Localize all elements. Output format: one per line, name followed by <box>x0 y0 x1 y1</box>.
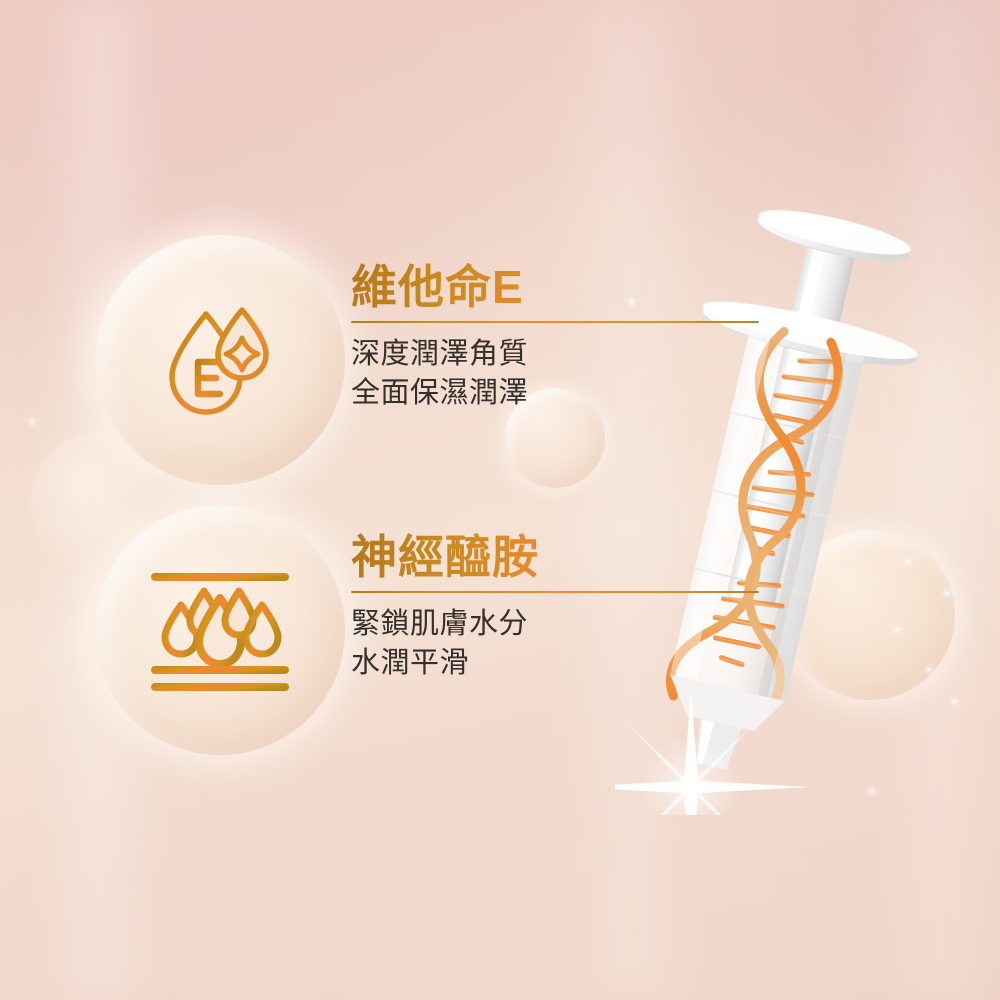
feature-line-2: 全面保濕潤澤 <box>351 374 771 412</box>
barrier-line-top <box>151 573 289 581</box>
feature-title: 神經醯胺 <box>351 533 771 581</box>
moisture-lock-droplets-icon <box>145 565 295 695</box>
feature-block-ceramide: 神經醯胺 緊鎖肌膚水分 水潤平滑 <box>95 505 771 755</box>
ceramide-text-column: 神經醯胺 緊鎖肌膚水分 水潤平滑 <box>351 505 771 682</box>
sparkle-dot <box>838 290 842 293</box>
sparkle-dot <box>927 668 931 671</box>
sparkle-dot <box>30 420 34 423</box>
feature-block-vitamin-e: 維他命E 深度潤澤角質 全面保濕潤澤 <box>95 235 771 485</box>
promo-graphic: 維他命E 深度潤澤角質 全面保濕潤澤 <box>0 0 1000 1000</box>
feature-line-2: 水潤平滑 <box>351 644 771 682</box>
ceramide-icon-container <box>95 505 345 755</box>
light-streak-left <box>40 0 160 1000</box>
sparkle-dot <box>945 592 949 595</box>
vitamin-e-text-column: 維他命E 深度潤澤角質 全面保濕潤澤 <box>351 235 771 412</box>
sparkle-dot <box>870 790 874 793</box>
feature-divider <box>351 321 759 323</box>
vitamin-e-icon-container <box>95 235 345 485</box>
barrier-line-mid <box>151 666 289 674</box>
background-bubble-right <box>785 530 955 700</box>
barrier-line-bottom <box>151 683 289 691</box>
letter-e-glyph <box>198 362 220 394</box>
feature-line-1: 緊鎖肌膚水分 <box>351 605 771 643</box>
feature-title: 維他命E <box>351 263 771 311</box>
vitamin-e-droplet-icon <box>150 290 290 430</box>
feature-line-1: 深度潤澤角質 <box>351 335 771 373</box>
feature-divider <box>351 591 759 593</box>
sparkle-dot <box>952 700 957 703</box>
plunger-thumb-disc <box>754 204 913 270</box>
light-streak-center <box>560 0 700 1000</box>
light-streak-right <box>880 0 1000 1000</box>
sparkle-dot <box>905 560 910 563</box>
sparkle-dot <box>895 628 900 631</box>
